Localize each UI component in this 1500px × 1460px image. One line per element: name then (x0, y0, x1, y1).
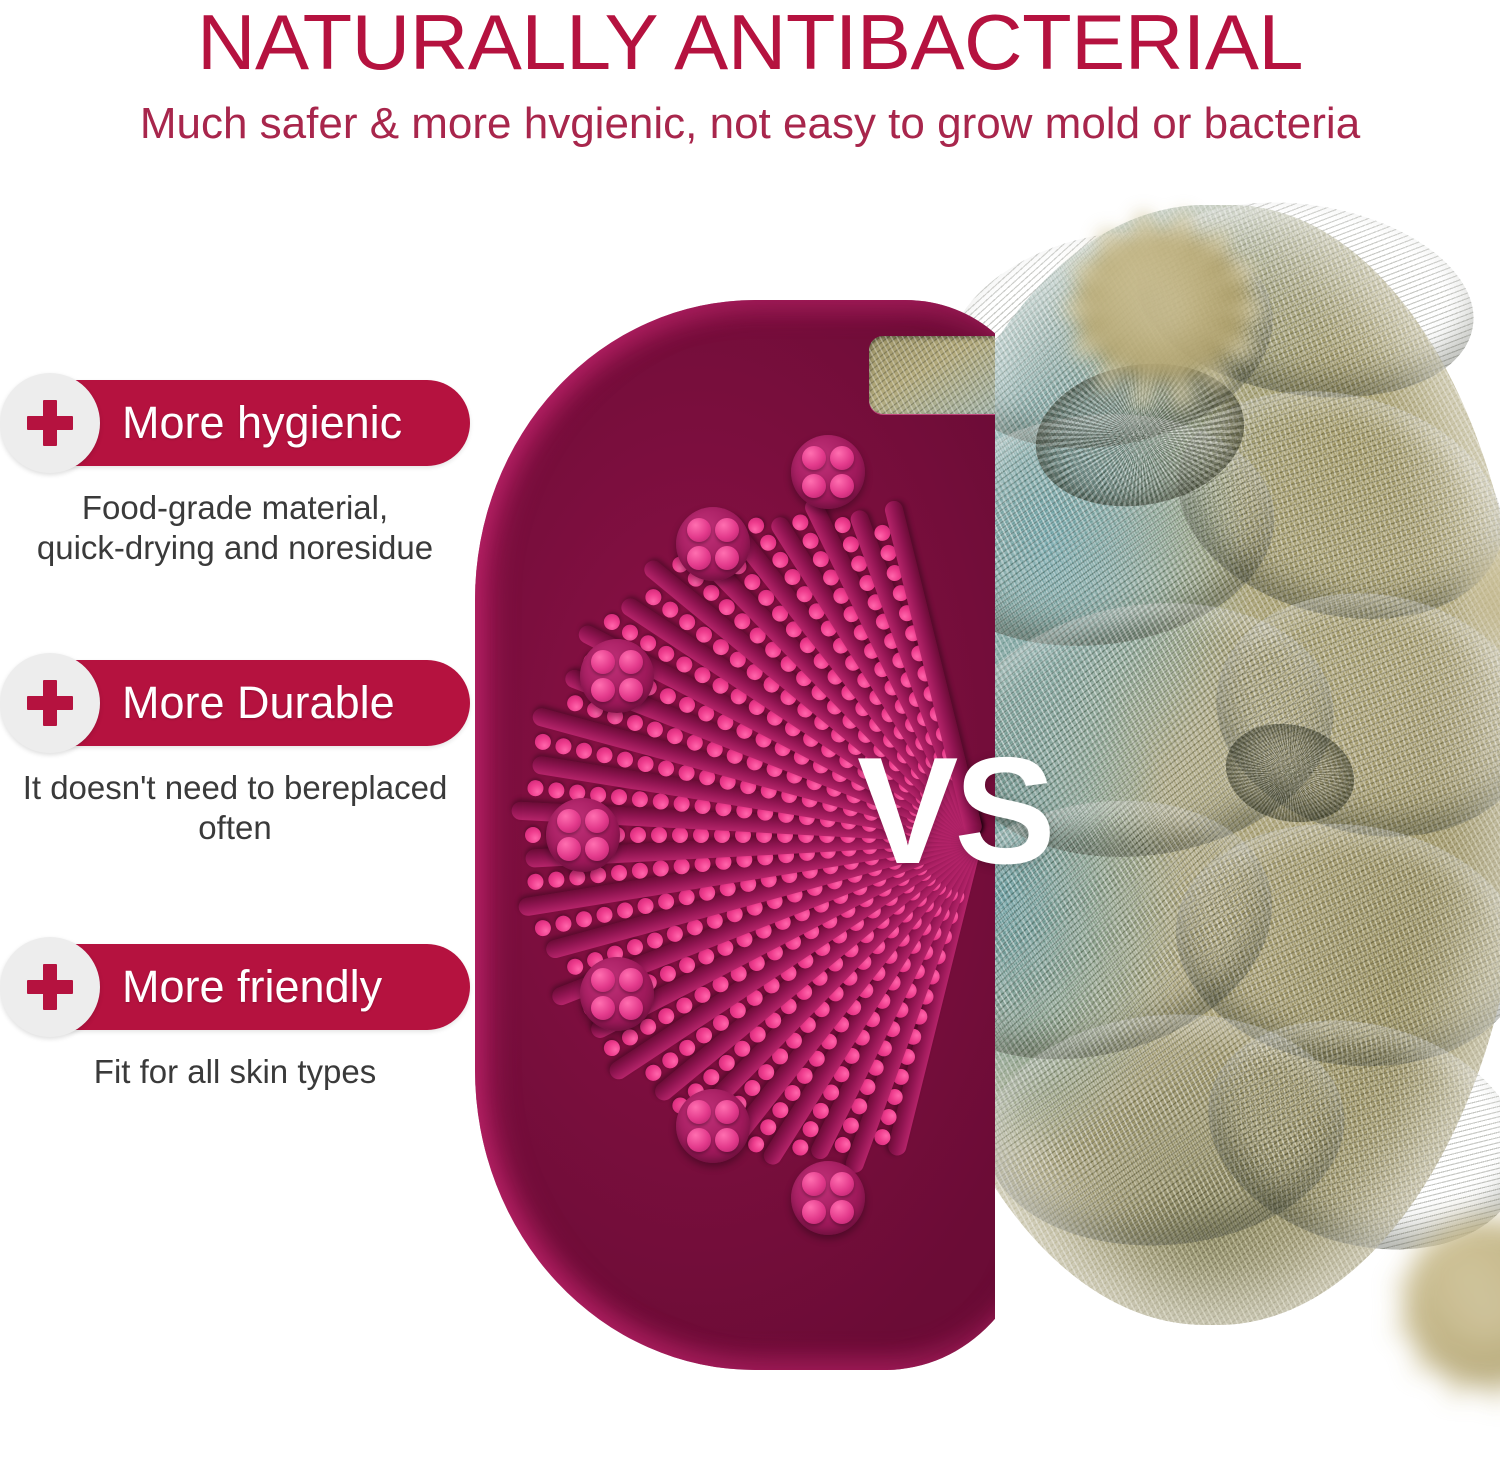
feature-item-more-durable: More Durable It doesn't need to bereplac… (0, 660, 470, 848)
suction-nub-pad (676, 1089, 750, 1163)
feature-description: Fit for all skin types (0, 1052, 470, 1092)
versus-label: VS (857, 735, 1052, 887)
suction-nub-pad (580, 639, 654, 713)
bacteria-icon (1015, 175, 1305, 425)
feature-list: More hygienic Food-grade material, quick… (0, 380, 470, 1092)
product-comparison-stage: VS (455, 150, 1500, 1460)
suction-nub-pad (580, 957, 654, 1031)
plus-icon (0, 373, 100, 473)
bacteria-icon (1455, 530, 1500, 650)
feature-item-more-friendly: More friendly Fit for all skin types (0, 944, 470, 1092)
feature-label: More hygienic (122, 397, 402, 449)
feature-label: More friendly (122, 961, 382, 1013)
feature-description: It doesn't need to bereplaced often (0, 768, 470, 848)
suction-nub-pad (676, 507, 750, 581)
plus-icon (0, 653, 100, 753)
suction-nub-pad (791, 435, 865, 509)
page-subtitle: Much safer & more hvgienic, not easy to … (0, 96, 1500, 152)
hanging-hole (869, 336, 995, 414)
plus-icon (0, 937, 100, 1037)
feature-label: More Durable (122, 677, 395, 729)
suction-nub-pad (791, 1161, 865, 1235)
feature-badge-more-durable[interactable]: More Durable (24, 660, 470, 746)
page-title: NATURALLY ANTIBACTERIAL (0, 0, 1500, 88)
suction-nub-pad (546, 798, 620, 872)
feature-item-more-hygienic: More hygienic Food-grade material, quick… (0, 380, 470, 568)
feature-description: Food-grade material, quick-drying and no… (0, 488, 470, 568)
feature-badge-more-friendly[interactable]: More friendly (24, 944, 470, 1030)
feature-badge-more-hygienic[interactable]: More hygienic (24, 380, 470, 466)
virus-spike (1471, 590, 1500, 599)
bacteria-icon (1375, 1160, 1500, 1450)
